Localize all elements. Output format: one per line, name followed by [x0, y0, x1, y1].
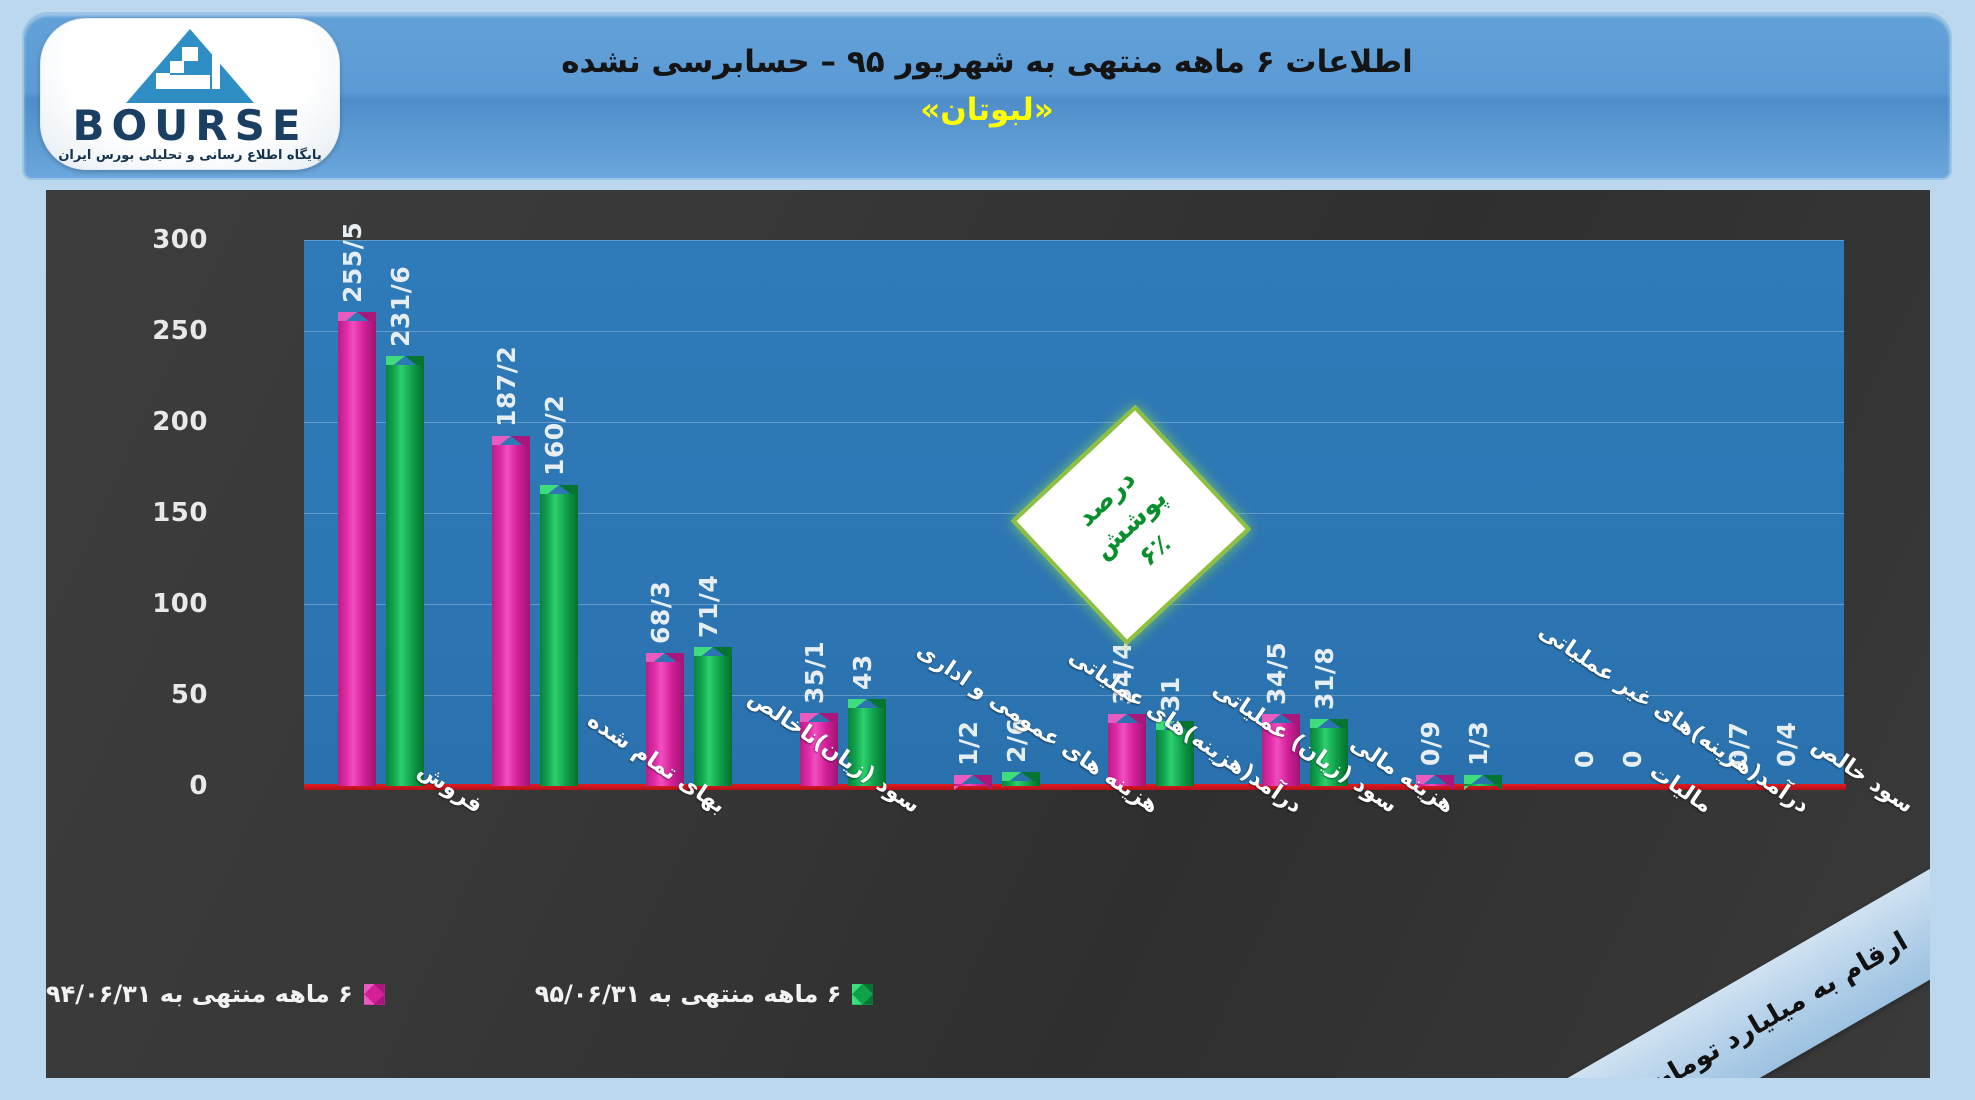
bar-value-label: 31/8 — [1310, 647, 1339, 710]
units-ribbon: ارقام به میلیارد تومان — [1512, 830, 1930, 1078]
bar-series2[interactable] — [1464, 775, 1502, 786]
bar-series1[interactable] — [492, 436, 530, 786]
bar-value-label: 68/3 — [646, 580, 675, 643]
bar-value-label: 160/2 — [540, 395, 569, 476]
y-axis-tick-label: 300 — [124, 225, 208, 255]
bar-value-label: 0/4 — [1772, 722, 1801, 767]
legend-item[interactable]: ۶ ماهه منتهی به ۹۵/۰۶/۳۱ — [535, 980, 874, 1008]
coverage-callout: درصد پوشش ۶٪ — [1046, 440, 1216, 610]
bar-body — [954, 784, 992, 786]
bar-value-label: 0 — [1618, 750, 1647, 768]
y-axis-tick-label: 200 — [124, 407, 208, 437]
y-axis-tick-label: 50 — [124, 680, 208, 710]
bar-series1[interactable] — [954, 775, 992, 786]
bar-series2[interactable] — [694, 647, 732, 786]
legend-swatch-icon — [852, 984, 873, 1005]
bar-value-label: 231/6 — [386, 265, 415, 346]
bar-cap — [954, 775, 992, 790]
legend-label: ۶ ماهه منتهی به ۹۵/۰۶/۳۱ — [535, 980, 842, 1008]
chart-legend: ۶ ماهه منتهی به ۹۴/۰۶/۳۱۶ ماهه منتهی به … — [46, 980, 1930, 1008]
bar-body — [1464, 784, 1502, 786]
y-axis-tick-label: 250 — [124, 316, 208, 346]
chart-panel: 050100150200250300 255/5231/6187/2160/26… — [46, 190, 1930, 1078]
site-logo[interactable]: BOURSE پایگاه اطلاع رسانی و تحلیلی بورس … — [40, 18, 340, 170]
y-axis-tick-label: 0 — [124, 771, 208, 801]
bar-value-label: 0 — [1570, 750, 1599, 768]
bar-value-label: 43 — [848, 654, 877, 690]
bar-series2[interactable] — [540, 485, 578, 786]
bar-value-label: 0/9 — [1416, 721, 1445, 766]
bar-value-label: 1/3 — [1464, 720, 1493, 765]
logo-tagline: پایگاه اطلاع رسانی و تحلیلی بورس ایران — [58, 148, 321, 163]
bar-body — [540, 494, 578, 786]
bar-value-label: 34/5 — [1262, 642, 1291, 705]
bar-value-label: 1/2 — [954, 720, 983, 765]
legend-label: ۶ ماهه منتهی به ۹۴/۰۶/۳۱ — [46, 980, 353, 1008]
bar-body — [492, 445, 530, 786]
bar-value-label: 187/2 — [492, 346, 521, 427]
logo-wordmark: BOURSE — [72, 107, 307, 145]
y-axis-tick-label: 100 — [124, 589, 208, 619]
bar-cap — [1464, 775, 1502, 790]
slide-root: اطلاعات ۶ ماهه منتهی به شهریور ۹۵ – حساب… — [0, 0, 1975, 1100]
bar-value-label: 35/1 — [800, 641, 829, 704]
bourse-triangle-logo-icon — [124, 27, 256, 109]
bar-body — [338, 321, 376, 786]
bar-value-label: 255/5 — [338, 222, 367, 303]
bar-series1[interactable] — [338, 312, 376, 786]
legend-item[interactable]: ۶ ماهه منتهی به ۹۴/۰۶/۳۱ — [46, 980, 385, 1008]
bar-body — [386, 365, 424, 787]
legend-swatch-icon — [364, 984, 385, 1005]
callout-diamond: درصد پوشش ۶٪ — [1011, 405, 1251, 645]
bar-body — [694, 656, 732, 786]
bar-body — [1002, 781, 1040, 786]
bar-series2[interactable] — [1002, 772, 1040, 786]
bar-value-label: 71/4 — [694, 575, 723, 638]
bar-series2[interactable] — [386, 356, 424, 787]
y-axis-tick-label: 150 — [124, 498, 208, 528]
